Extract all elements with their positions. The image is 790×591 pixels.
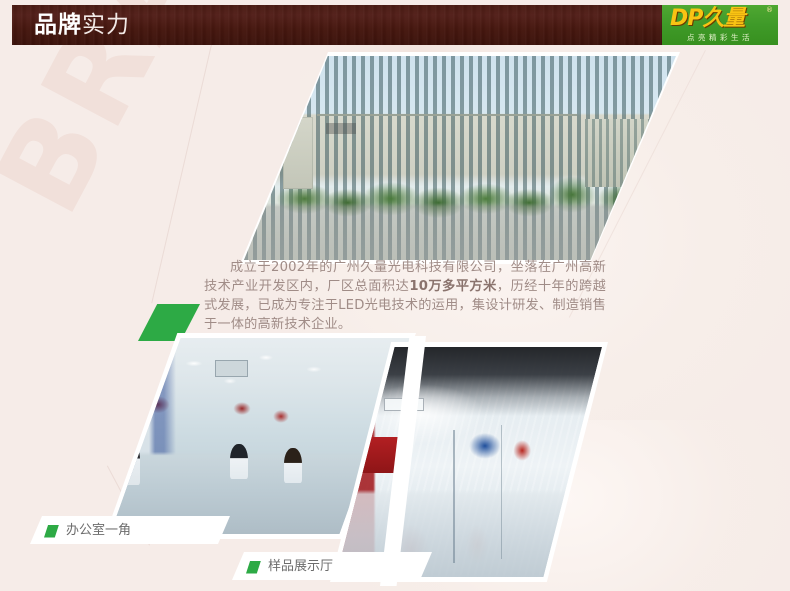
page-title: 品牌实力 xyxy=(34,12,130,38)
glass-partition xyxy=(453,430,455,563)
green-bullet-icon xyxy=(246,561,261,574)
page-title-strong: 品牌 xyxy=(34,12,82,38)
header-banner: 品牌实力 DP久量 ® 点亮精彩生活 xyxy=(12,5,778,45)
page-title-light: 实力 xyxy=(82,12,130,38)
glass-partition xyxy=(501,425,503,558)
ceiling-ac-unit xyxy=(215,360,248,378)
logo-tagline: 点亮精彩生活 xyxy=(672,33,768,42)
building-roofline xyxy=(317,114,576,116)
office-worker xyxy=(284,448,302,483)
building-sign xyxy=(326,123,356,133)
description-highlight: 10万多平方米 xyxy=(409,279,496,294)
registered-trademark-icon: ® xyxy=(766,6,773,14)
company-description: 成立于2002年的广州久量光电科技有限公司，坐落在广州高新技术产业开发区内，厂区… xyxy=(204,258,606,334)
logo-wordmark: DP久量 xyxy=(670,7,770,31)
caption-office-label: 办公室一角 xyxy=(66,523,131,539)
caption-office: 办公室一角 xyxy=(44,523,131,539)
caption-showroom-label: 样品展示厅 xyxy=(268,559,333,575)
brand-logo: DP久量 ® 点亮精彩生活 xyxy=(662,5,778,45)
photo-image-factory xyxy=(244,56,676,260)
building-right xyxy=(585,119,663,186)
photo-factory-exterior xyxy=(240,52,680,264)
caption-showroom: 样品展示厅 xyxy=(246,559,333,575)
brand-strength-page: BRAND 品牌实力 DP久量 ® 点亮精彩生活 成立于2002年的广州久量光电… xyxy=(0,0,790,591)
green-bullet-icon xyxy=(44,525,59,538)
office-worker xyxy=(230,444,248,479)
